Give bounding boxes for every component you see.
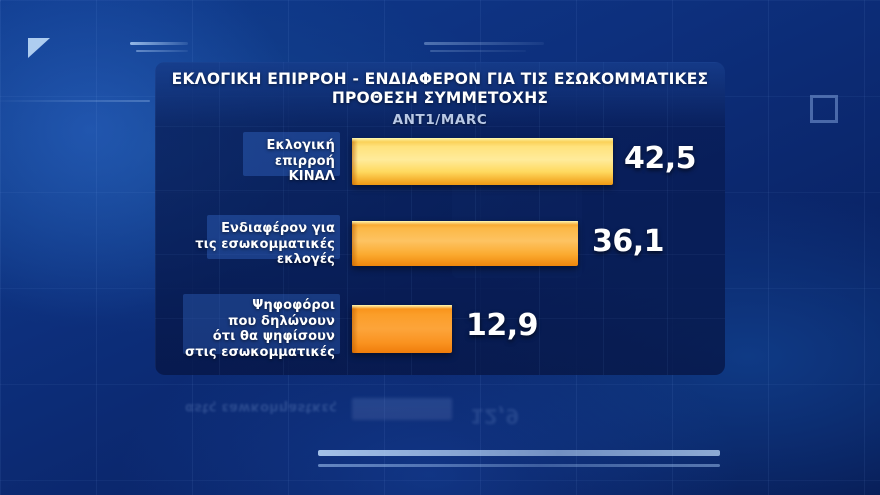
broadcast-graphic-stage: ΕΚΛΟΓΙΚΗ ΕΠΙΡΡΟΗ - ΕΝΔΙΑΦΕΡΟΝ ΓΙΑ ΤΙΣ ΕΣ… (0, 0, 880, 495)
bar-segment (352, 305, 452, 353)
bar-value-label: 12,9 (466, 308, 538, 343)
bar-label: Ψηφοφόροι που δηλώνουν ότι θα ψηφίσουν σ… (168, 296, 340, 362)
chart-row: Ψηφοφόροι που δηλώνουν ότι θα ψηφίσουν σ… (0, 0, 880, 495)
bar-track (352, 305, 452, 353)
bar-chart: Εκλογική επιρροή ΚΙΝΑΛ 42,5 Ενδιαφέρον γ… (0, 0, 880, 495)
